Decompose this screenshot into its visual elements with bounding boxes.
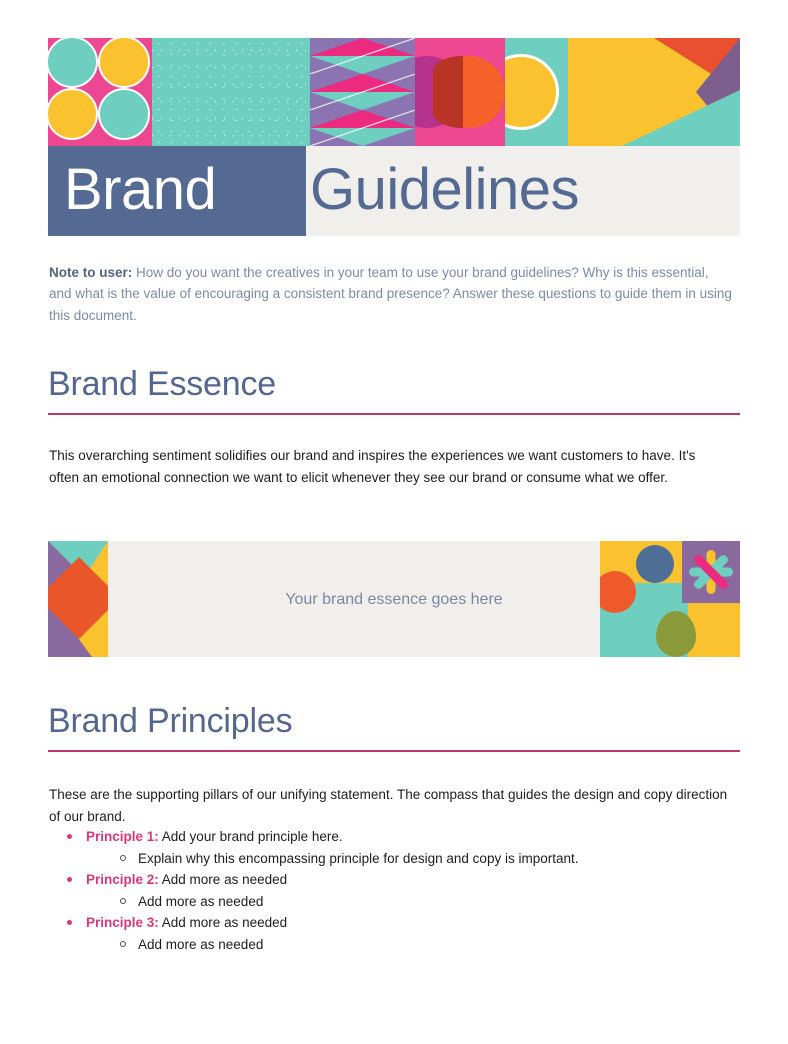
- principle-label: Principle 2:: [86, 872, 159, 887]
- art-panel-overlap-circles-pink: [415, 38, 505, 146]
- art-panel-yellow-chevron: [568, 38, 740, 146]
- asterisk-burst-icon: [686, 547, 736, 597]
- art-panel-speckled-teal: [152, 38, 310, 146]
- triangle-row-3: [310, 110, 415, 146]
- brand-guidelines-hero: Brand Guidelines: [48, 38, 740, 236]
- circle-yellow-bottom-left: [48, 88, 98, 140]
- circle-slate-blue: [636, 545, 674, 583]
- brand-principles-list: Principle 1: Add your brand principle he…: [58, 826, 730, 955]
- diagonal-highlight: [310, 74, 415, 110]
- principle-text: Add more as needed: [159, 872, 287, 887]
- document-title-guidelines: Guidelines: [310, 161, 579, 219]
- art-panel-circles-pink: [48, 38, 152, 146]
- speckle-texture: [152, 38, 310, 146]
- principle-subtext: Add more as needed: [138, 937, 263, 952]
- principle-label: Principle 3:: [86, 915, 159, 930]
- paragraph-brand-principles: These are the supporting pillars of our …: [49, 784, 729, 828]
- document-page: Brand Guidelines Note to user: How do yo…: [0, 0, 788, 1044]
- hero-title-bar: Brand Guidelines: [48, 146, 740, 236]
- principles-list-level-2: Add more as needed: [86, 891, 730, 913]
- list-item: Principle 3: Add more as needed Add more…: [58, 912, 730, 955]
- principle-subtext: Add more as needed: [138, 894, 263, 909]
- art-panel-teal-strip: [505, 38, 568, 146]
- list-item: Add more as needed: [86, 891, 730, 913]
- circle-yellow-top-right: [98, 38, 150, 88]
- bullet-ring-icon: [120, 941, 126, 947]
- note-to-user-label: Note to user:: [49, 265, 132, 280]
- leaf-shape-olive: [656, 611, 696, 657]
- principle-text: Add your brand principle here.: [159, 829, 343, 844]
- principle-label: Principle 1:: [86, 829, 159, 844]
- brand-essence-placeholder-banner: Your brand essence goes here: [48, 541, 740, 657]
- heading-text: Brand Principles: [48, 701, 740, 741]
- paragraph-brand-essence: This overarching sentiment solidifies ou…: [49, 445, 729, 489]
- principle-text: Add more as needed: [159, 915, 287, 930]
- essence-art-right: [600, 541, 740, 657]
- principles-list-level-1: Principle 1: Add your brand principle he…: [58, 826, 730, 955]
- principle-subtext: Explain why this encompassing principle …: [138, 851, 578, 866]
- section-heading-brand-essence: Brand Essence: [48, 364, 740, 415]
- bullet-dot-icon: [67, 920, 72, 925]
- circle-yellow-outlined: [505, 54, 559, 130]
- triangle-row-2: [310, 74, 415, 110]
- bullet-dot-icon: [67, 834, 72, 839]
- section-heading-brand-principles: Brand Principles: [48, 701, 740, 752]
- triangle-row-1: [310, 38, 415, 74]
- list-item: Add more as needed: [86, 934, 730, 956]
- circle-overlap-shade: [433, 56, 463, 128]
- list-item: Explain why this encompassing principle …: [86, 848, 730, 870]
- circle-teal-bottom-right: [98, 88, 150, 140]
- note-to-user: Note to user: How do you want the creati…: [49, 262, 733, 327]
- bullet-ring-icon: [120, 898, 126, 904]
- heading-underline-rule: [48, 750, 740, 752]
- heading-text: Brand Essence: [48, 364, 740, 404]
- bullet-dot-icon: [67, 877, 72, 882]
- circle-teal-top-left: [48, 38, 98, 88]
- diagonal-highlight: [310, 38, 415, 74]
- principles-list-level-2: Explain why this encompassing principle …: [86, 848, 730, 870]
- principles-list-level-2: Add more as needed: [86, 934, 730, 956]
- diagonal-highlight: [310, 110, 415, 146]
- heading-underline-rule: [48, 413, 740, 415]
- bullet-ring-icon: [120, 855, 126, 861]
- hero-decorative-artwork: [48, 38, 740, 146]
- document-title-brand: Brand: [64, 161, 216, 219]
- list-item: Principle 2: Add more as needed Add more…: [58, 869, 730, 912]
- note-to-user-text: How do you want the creatives in your te…: [49, 265, 732, 323]
- art-panel-triangles-purple: [310, 38, 415, 146]
- list-item: Principle 1: Add your brand principle he…: [58, 826, 730, 869]
